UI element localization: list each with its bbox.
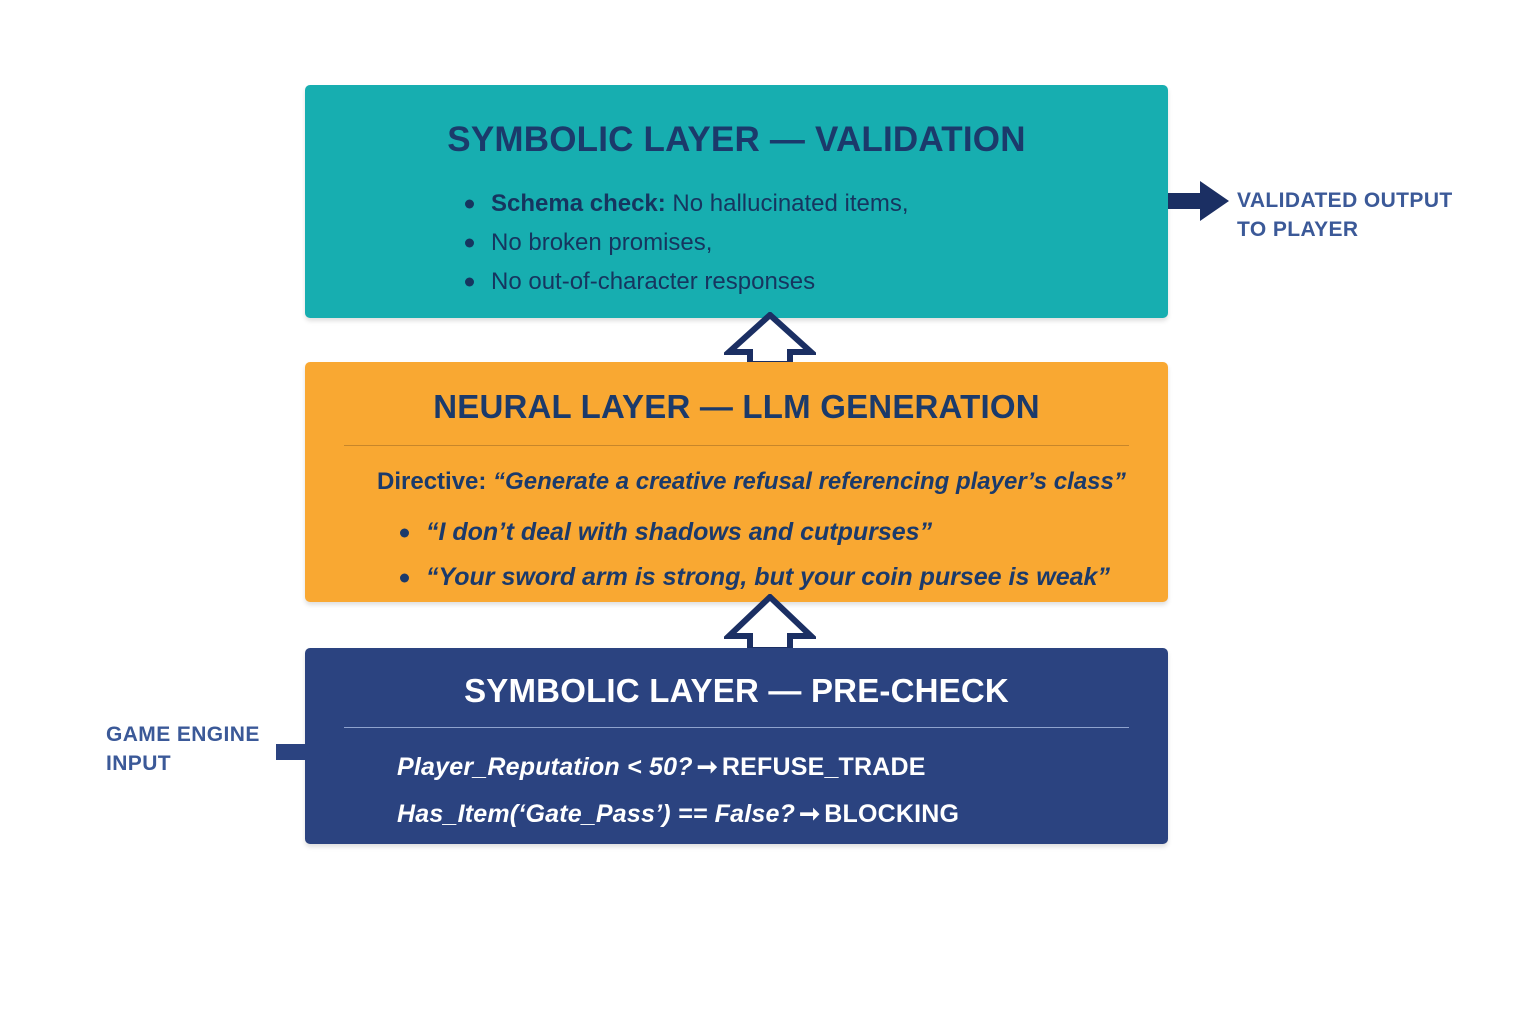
list-item: Has_Item(‘Gate_Pass’) == False?➞BLOCKING (397, 791, 1168, 838)
neural-example-text: “I don’t deal with shadows and cutpurses… (426, 518, 932, 546)
output-label-line-1: VALIDATED OUTPUT (1237, 186, 1497, 215)
bullet-icon (465, 199, 474, 208)
neural-directive-text: “Generate a creative refusal referencing… (486, 468, 1125, 495)
right-arrow-icon: ➞ (795, 800, 824, 828)
precheck-layer-title: SYMBOLIC LAYER — PRE-CHECK (305, 648, 1168, 707)
up-arrow-neural-to-validation-icon (724, 312, 816, 364)
validation-layer-box: SYMBOLIC LAYER — VALIDATION Schema check… (305, 85, 1168, 318)
neural-examples-list: “I don’t deal with shadows and cutpurses… (305, 510, 1168, 600)
precheck-title-divider (344, 727, 1129, 728)
bullet-icon (465, 238, 474, 247)
precheck-rule-action: REFUSE_TRADE (722, 753, 926, 781)
precheck-layer-box: SYMBOLIC LAYER — PRE-CHECK Player_Reputa… (305, 648, 1168, 844)
precheck-rules-list: Player_Reputation < 50?➞REFUSE_TRADE Has… (305, 744, 1168, 838)
validated-output-label: VALIDATED OUTPUT TO PLAYER (1237, 186, 1497, 244)
neural-directive-label: Directive: (377, 468, 486, 495)
list-item: No broken promises, (465, 223, 1168, 262)
output-arrow-right-icon (1168, 178, 1230, 224)
validation-items-list: Schema check: No hallucinated items, No … (305, 184, 1168, 301)
precheck-rule-action: BLOCKING (824, 800, 959, 828)
validation-item-text: No hallucinated items, (666, 190, 909, 217)
up-arrow-precheck-to-neural-icon (724, 594, 816, 650)
neural-layer-box: NEURAL LAYER — LLM GENERATION Directive:… (305, 362, 1168, 602)
list-item: No out-of-character responses (465, 262, 1168, 301)
neural-example-text: “Your sword arm is strong, but your coin… (426, 563, 1110, 591)
precheck-rule-condition: Has_Item(‘Gate_Pass’) == False? (397, 800, 795, 828)
input-label-line-2: INPUT (106, 749, 281, 778)
list-item: Player_Reputation < 50?➞REFUSE_TRADE (397, 744, 1168, 791)
game-engine-input-label: GAME ENGINE INPUT (106, 720, 281, 778)
validation-layer-title: SYMBOLIC LAYER — VALIDATION (305, 85, 1168, 157)
list-item: Schema check: No hallucinated items, (465, 184, 1168, 223)
validation-item-text: No out-of-character responses (491, 268, 815, 295)
bullet-icon (400, 528, 409, 537)
output-label-line-2: TO PLAYER (1237, 215, 1497, 244)
list-item: “I don’t deal with shadows and cutpurses… (400, 510, 1168, 555)
right-arrow-icon: ➞ (693, 753, 722, 781)
input-label-line-1: GAME ENGINE (106, 720, 281, 749)
bullet-icon (400, 573, 409, 582)
neural-layer-title: NEURAL LAYER — LLM GENERATION (305, 362, 1168, 423)
validation-item-text: No broken promises, (491, 229, 712, 256)
bullet-icon (465, 277, 474, 286)
diagram-canvas: SYMBOLIC LAYER — VALIDATION Schema check… (0, 0, 1536, 1024)
precheck-rule-condition: Player_Reputation < 50? (397, 753, 693, 781)
validation-item-lead: Schema check: (491, 190, 666, 217)
neural-directive-line: Directive: “Generate a creative refusal … (305, 446, 1168, 496)
input-arrow-right-icon (276, 728, 333, 776)
